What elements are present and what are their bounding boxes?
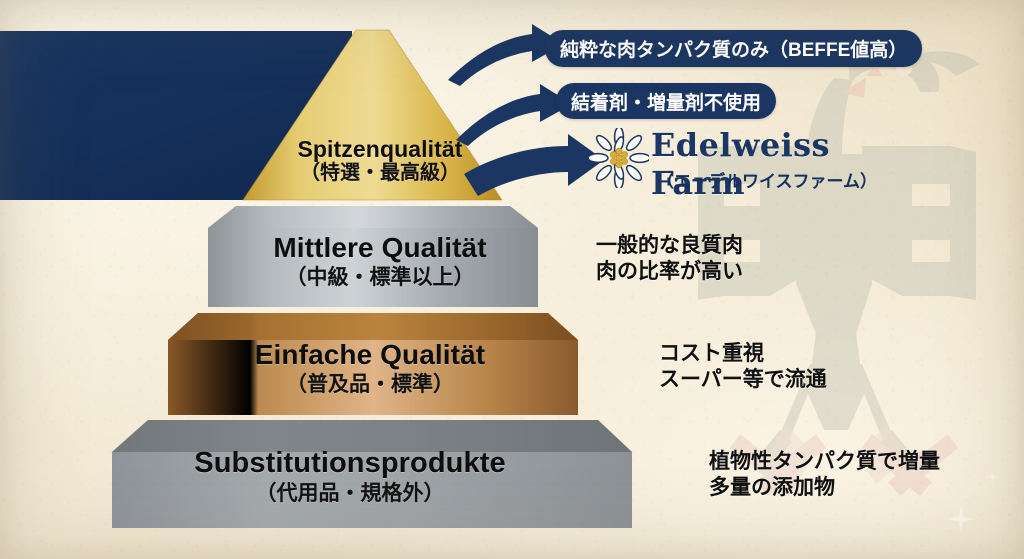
- callout-pure-meat-protein: 純粋な肉タンパク質のみ（BEFFE値高）: [545, 30, 922, 67]
- brand-lockup: Edelweiss Farm （エーデルワイスファーム）: [589, 122, 919, 198]
- sparkle-icon: [948, 506, 974, 532]
- arrow-to-brand-icon: [464, 134, 604, 196]
- infographic-canvas: Spitzenqualität （特選・最高級） Mittlere Qualit…: [0, 0, 1024, 559]
- tier-medium-quality-shape: [208, 206, 538, 307]
- callout-no-binders-no-fillers: 結着剤・増量剤不使用: [556, 83, 776, 119]
- tier-substitute-products-shape: [112, 420, 632, 528]
- note-substitute: 植物性タンパク質で増量 多量の添加物: [709, 449, 940, 502]
- edelweiss-flower-icon: [589, 128, 649, 188]
- arrow-to-callout-2-icon: [456, 84, 572, 146]
- sparkle-icon: [985, 470, 999, 484]
- note-simple: コスト重視 スーパー等で流通: [659, 341, 827, 394]
- note-medium: 一般的な良質肉 肉の比率が高い: [596, 233, 743, 286]
- brand-name-kana: （エーデルワイスファーム）: [657, 167, 877, 192]
- tier-simple-quality-shape: [168, 313, 578, 415]
- callout-text: 純粋な肉タンパク質のみ（BEFFE値高）: [560, 35, 907, 62]
- callout-text: 結着剤・増量剤不使用: [571, 88, 761, 115]
